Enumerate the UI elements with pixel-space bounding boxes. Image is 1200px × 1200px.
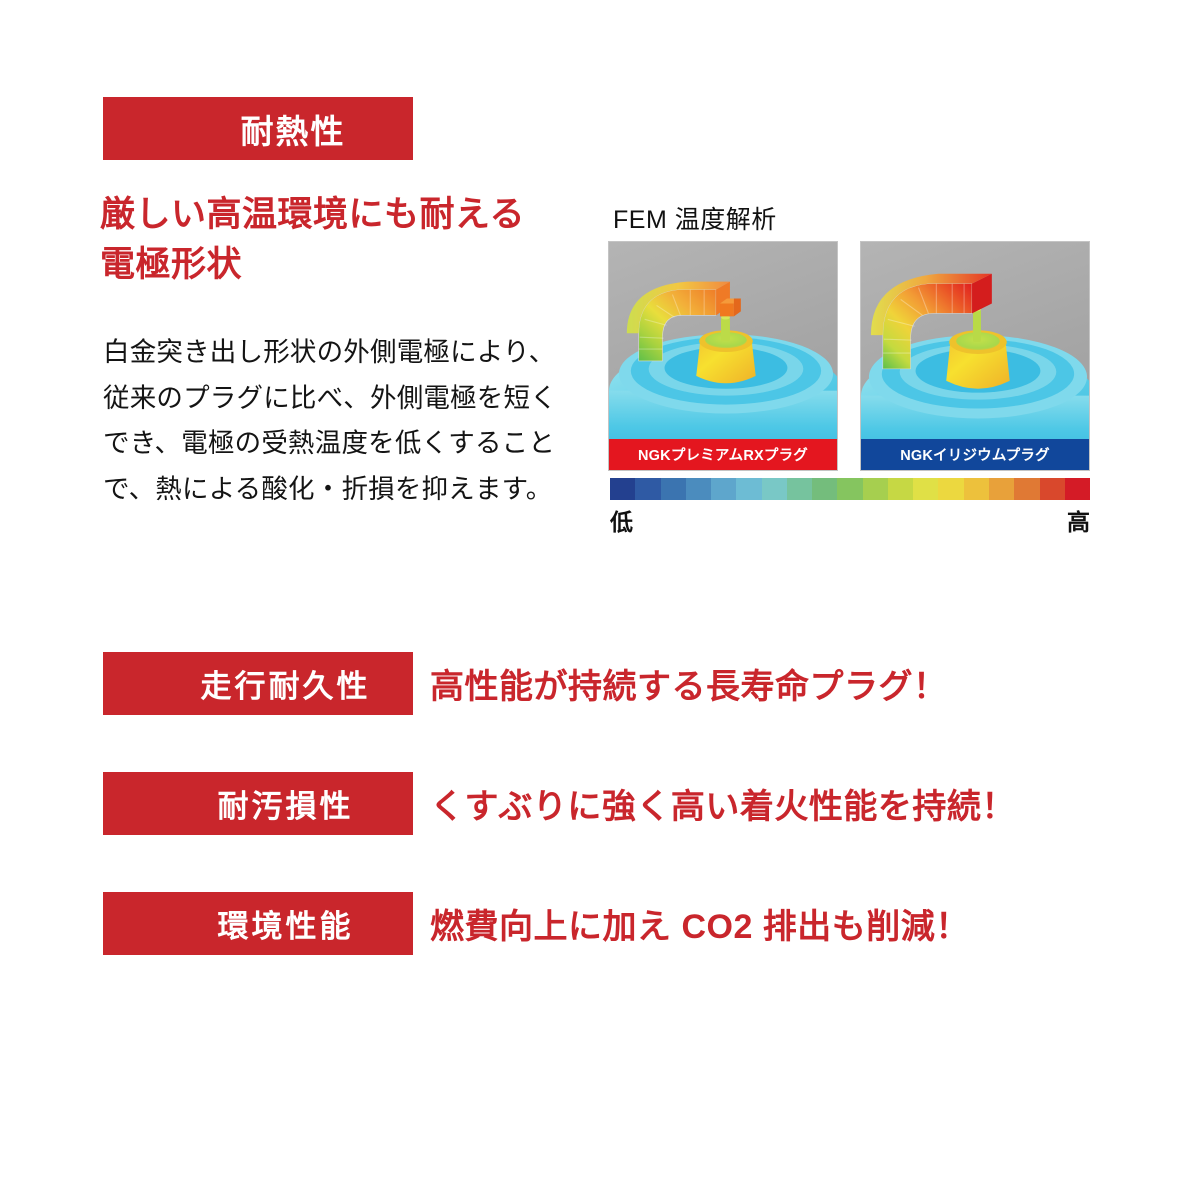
scale-band-14 — [964, 478, 989, 500]
scale-band-11 — [888, 478, 913, 500]
body-line-4: で、熱による酸化・折損を抑えます。 — [103, 467, 583, 513]
feature-badge-durability: 走行耐久性 — [103, 652, 413, 715]
scale-high-label: 高 — [1067, 503, 1090, 537]
fem-panel-iridium: NGKイリジウムプラグ — [860, 241, 1090, 471]
scale-band-7 — [787, 478, 812, 500]
headline-line-2: 電極形状 — [100, 240, 580, 290]
scale-low-label: 低 — [610, 503, 633, 537]
headline-line-1: 厳しい高温環境にも耐える — [100, 190, 580, 240]
temperature-scale-labels: 低 高 — [610, 503, 1090, 537]
feature-badge-environmental: 環境性能 — [103, 892, 413, 955]
feature-row-durability: 走行耐久性 高性能が持続する長寿命プラグ！ — [0, 640, 1200, 760]
scale-band-10 — [863, 478, 888, 500]
heat-resistance-description: 白金突き出し形状の外側電極により、 従来のプラグに比べ、外側電極を短く でき、電… — [103, 330, 583, 512]
fem-panel-group: NGKプレミアムRXプラグ — [608, 241, 1090, 471]
scale-band-16 — [1014, 478, 1039, 500]
fem-caption-iridium: NGKイリジウムプラグ — [861, 439, 1089, 470]
scale-band-13 — [938, 478, 963, 500]
temperature-gradient-bar — [610, 478, 1090, 500]
scale-band-9 — [837, 478, 862, 500]
scale-band-0 — [610, 478, 635, 500]
scale-band-5 — [736, 478, 761, 500]
iridium-thermal-illustration — [861, 242, 1089, 470]
body-line-1: 白金突き出し形状の外側電極により、 — [103, 330, 583, 376]
body-line-2: 従来のプラグに比べ、外側電極を短く — [103, 376, 583, 422]
heat-resistance-section: 耐熱性 厳しい高温環境にも耐える 電極形状 白金突き出し形状の外側電極により、 … — [0, 0, 1200, 600]
scale-band-6 — [762, 478, 787, 500]
fem-analysis-title: FEM 温度解析 — [613, 200, 777, 236]
scale-band-2 — [661, 478, 686, 500]
scale-band-17 — [1040, 478, 1065, 500]
feature-list: 走行耐久性 高性能が持続する長寿命プラグ！ 耐汚損性 くすぶりに強く高い着火性能… — [0, 640, 1200, 1000]
scale-band-12 — [913, 478, 938, 500]
premium-rx-thermal-illustration — [609, 242, 837, 470]
temperature-scale: 低 高 — [610, 478, 1090, 537]
fem-caption-premium-rx: NGKプレミアムRXプラグ — [609, 439, 837, 470]
feature-text-durability: 高性能が持続する長寿命プラグ！ — [430, 652, 948, 715]
scale-band-8 — [812, 478, 837, 500]
fem-panel-premium-rx: NGKプレミアムRXプラグ — [608, 241, 838, 471]
scale-band-18 — [1065, 478, 1090, 500]
heat-resistance-badge: 耐熱性 — [103, 97, 413, 160]
scale-band-1 — [635, 478, 660, 500]
feature-text-environmental: 燃費向上に加え CO2 排出も削減！ — [430, 892, 970, 955]
feature-row-fouling-resistance: 耐汚損性 くすぶりに強く高い着火性能を持続！ — [0, 760, 1200, 880]
scale-band-3 — [686, 478, 711, 500]
page-title: 厳しい高温環境にも耐える 電極形状 — [100, 190, 580, 289]
scale-band-4 — [711, 478, 736, 500]
feature-row-environmental: 環境性能 燃費向上に加え CO2 排出も削減！ — [0, 880, 1200, 1000]
feature-badge-fouling-resistance: 耐汚損性 — [103, 772, 413, 835]
feature-text-fouling-resistance: くすぶりに強く高い着火性能を持続！ — [430, 772, 1016, 835]
body-line-3: でき、電極の受熱温度を低くすること — [103, 421, 583, 467]
scale-band-15 — [989, 478, 1014, 500]
